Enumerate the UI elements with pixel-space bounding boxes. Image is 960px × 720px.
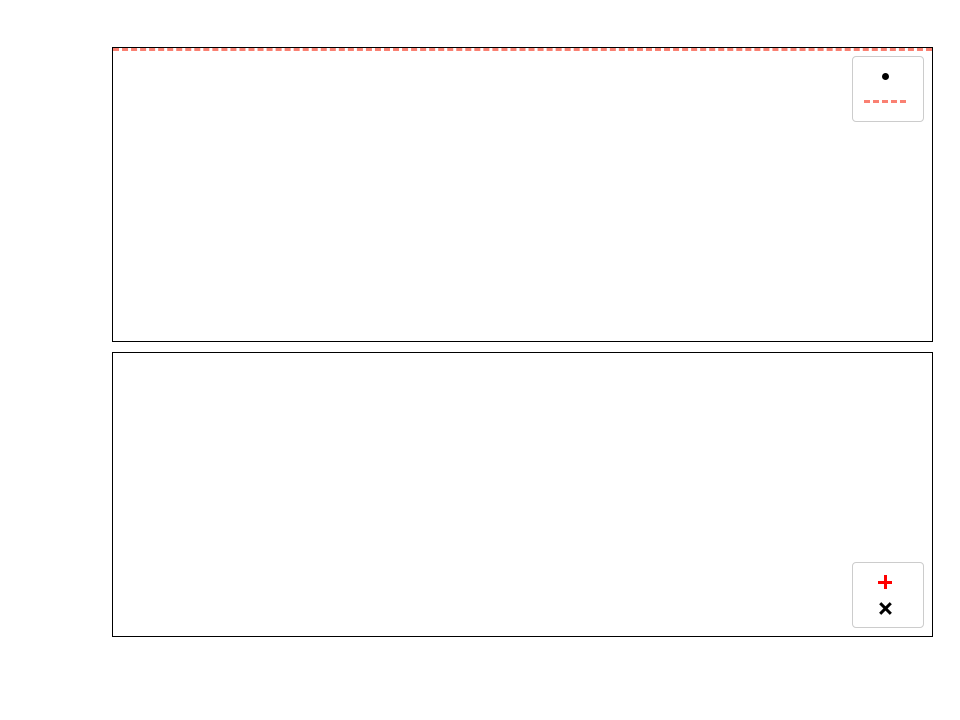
measurements-dot-icon <box>862 63 908 89</box>
figure-canvas <box>0 0 960 720</box>
legend-item-measurements[interactable] <box>862 63 912 89</box>
matched-stars-plus-icon <box>862 569 908 595</box>
legend-item-predicted-stars[interactable] <box>862 595 912 621</box>
top-panel-legend[interactable] <box>852 56 924 122</box>
top-panel-axes <box>112 47 933 342</box>
bottom-panel-axes <box>112 352 933 637</box>
bottom-panel-legend[interactable] <box>852 562 924 628</box>
threshold-dash-icon <box>862 89 908 115</box>
legend-item-threshold[interactable] <box>862 89 912 115</box>
legend-item-matched-stars[interactable] <box>862 569 912 595</box>
threshold-line <box>113 48 932 51</box>
predicted-stars-cross-icon <box>862 595 908 621</box>
